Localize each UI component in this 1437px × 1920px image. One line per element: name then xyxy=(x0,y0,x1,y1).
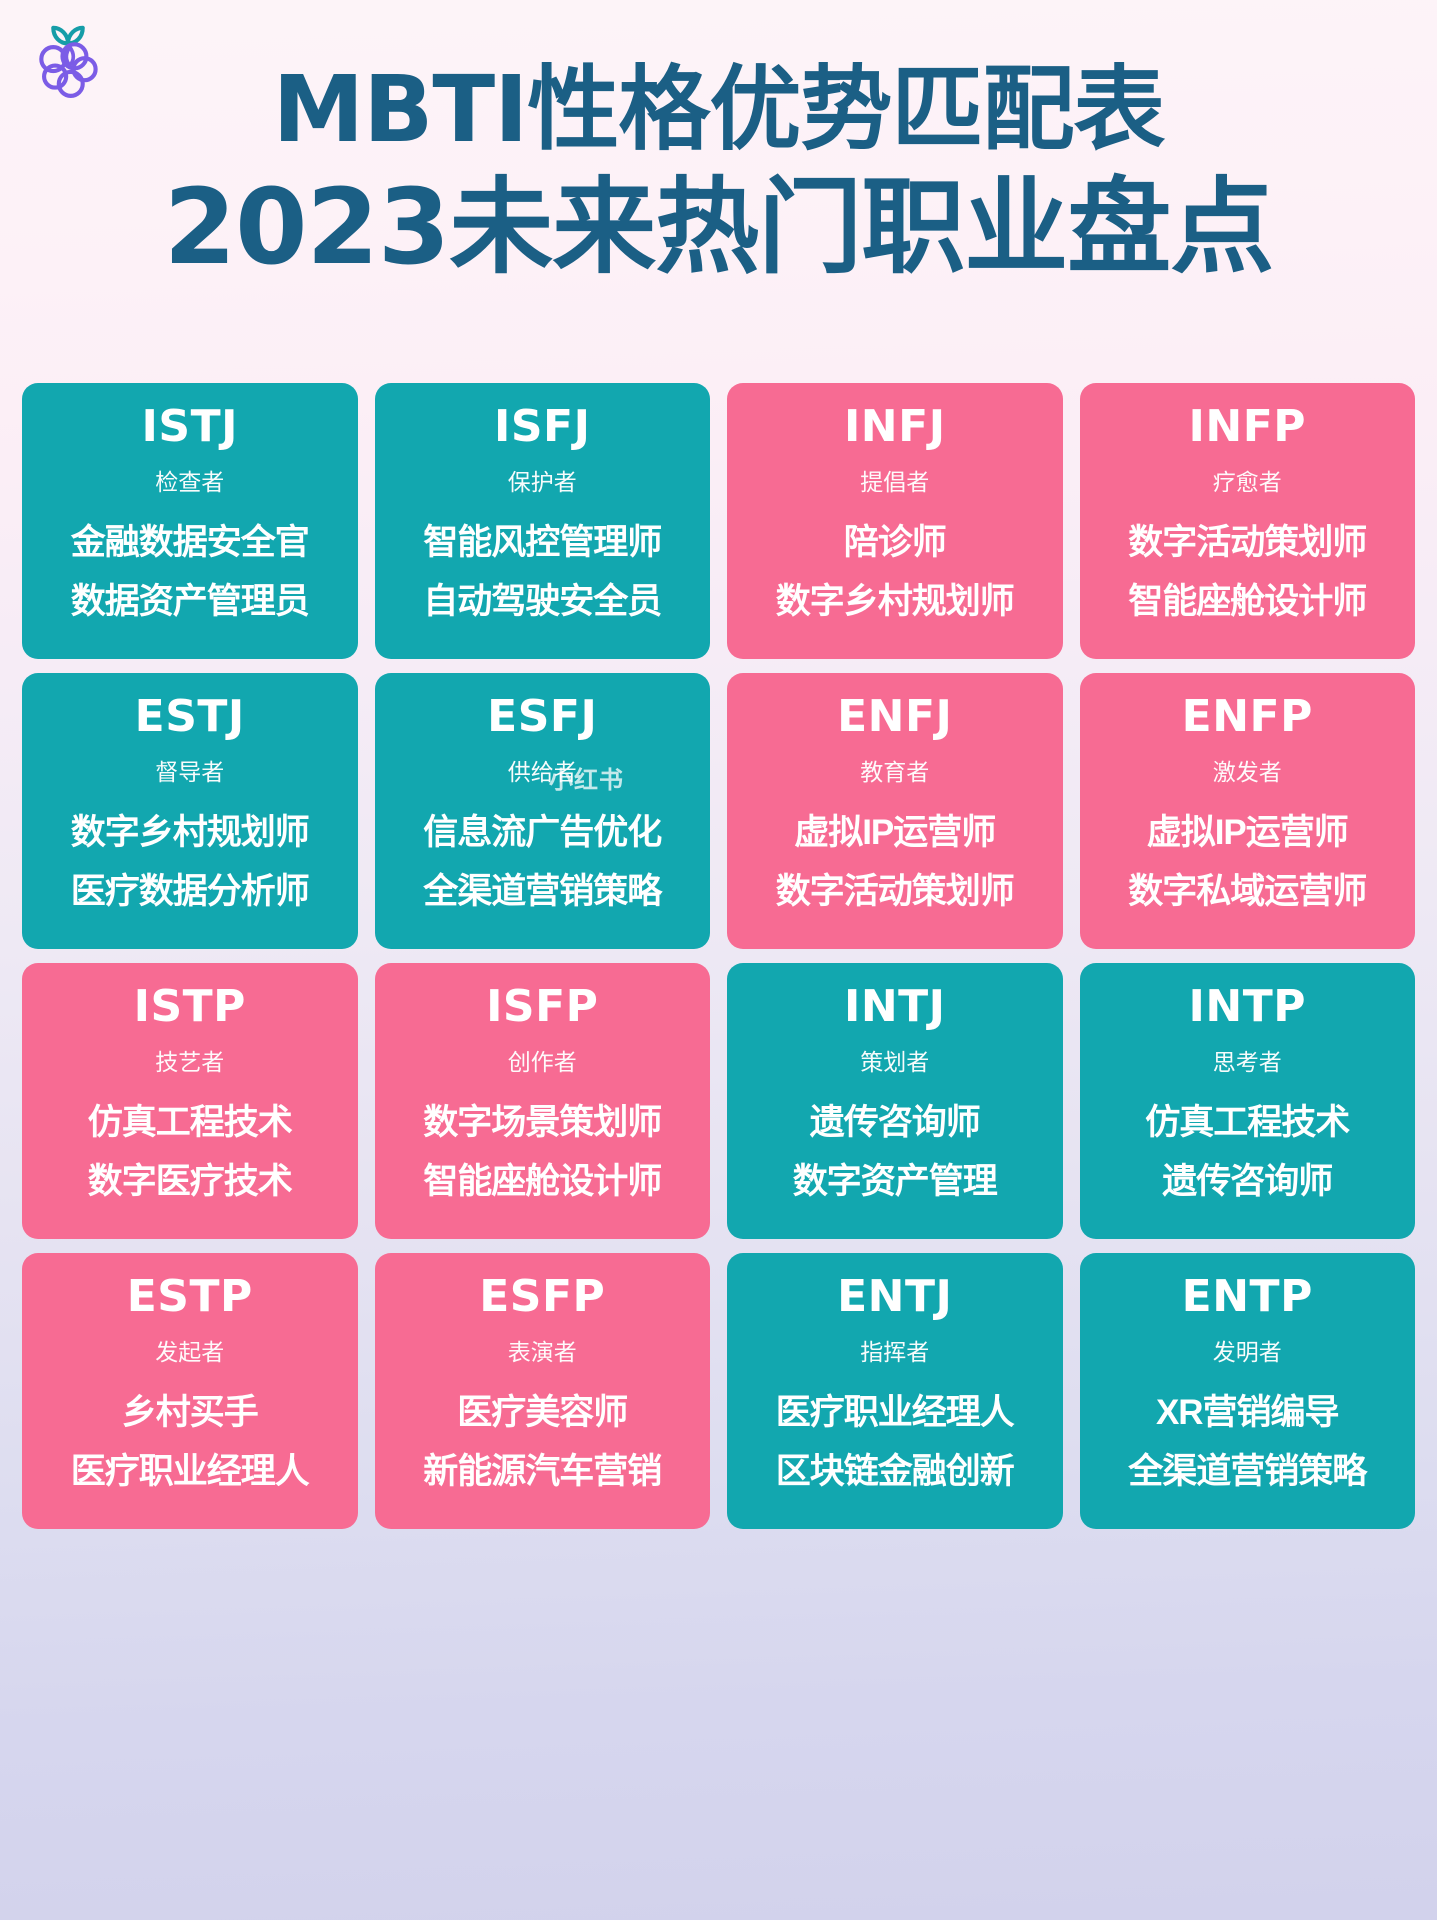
card-job-item: 全渠道营销策略 xyxy=(1128,1453,1366,1490)
card-nickname-label: 技艺者 xyxy=(155,1051,224,1074)
card-job-list: 虚拟IP运营师数字私域运营师 xyxy=(1086,814,1410,910)
card-job-item: 智能风控管理师 xyxy=(423,524,661,561)
mbti-card-intj[interactable]: INTJ策划者遗传咨询师数字资产管理 xyxy=(727,963,1063,1239)
card-job-item: 金融数据安全官 xyxy=(71,524,309,561)
card-nickname-label: 创作者 xyxy=(508,1051,577,1074)
card-job-list: 乡村买手医疗职业经理人 xyxy=(28,1394,352,1490)
card-job-item: 智能座舱设计师 xyxy=(1128,583,1366,620)
card-job-item: 自动驾驶安全员 xyxy=(423,583,661,620)
card-job-item: 数字活动策划师 xyxy=(1128,524,1366,561)
card-nickname-label: 督导者 xyxy=(155,761,224,784)
card-nickname-label: 保护者 xyxy=(508,471,577,494)
mbti-card-intp[interactable]: INTP思考者仿真工程技术遗传咨询师 xyxy=(1080,963,1416,1239)
card-nickname-label: 思考者 xyxy=(1213,1051,1282,1074)
mbti-card-esfp[interactable]: ESFP表演者医疗美容师新能源汽车营销 xyxy=(375,1253,711,1529)
card-job-item: 乡村买手 xyxy=(122,1394,258,1431)
card-job-item: 遗传咨询师 xyxy=(810,1104,980,1141)
card-job-item: 数字活动策划师 xyxy=(776,873,1014,910)
card-job-item: 仿真工程技术 xyxy=(1145,1104,1349,1141)
mbti-card-estj[interactable]: ESTJ督导者数字乡村规划师医疗数据分析师 xyxy=(22,673,358,949)
card-nickname-label: 表演者 xyxy=(508,1341,577,1364)
card-job-list: 虚拟IP运营师数字活动策划师 xyxy=(733,814,1057,910)
mbti-card-infj[interactable]: INFJ提倡者陪诊师数字乡村规划师 xyxy=(727,383,1063,659)
card-job-list: 医疗职业经理人区块链金融创新 xyxy=(733,1394,1057,1490)
card-type-label: INTP xyxy=(1189,985,1306,1029)
page-title: MBTI性格优势匹配表 2023未来热门职业盘点 xyxy=(0,60,1437,284)
mbti-card-isfj[interactable]: ISFJ保护者智能风控管理师自动驾驶安全员 xyxy=(375,383,711,659)
card-job-item: 数字乡村规划师 xyxy=(71,814,309,851)
card-job-item: 遗传咨询师 xyxy=(1162,1163,1332,1200)
card-nickname-label: 提倡者 xyxy=(860,471,929,494)
card-nickname-label: 发起者 xyxy=(155,1341,224,1364)
card-type-label: ENTJ xyxy=(837,1275,952,1319)
card-job-item: XR营销编导 xyxy=(1156,1394,1339,1431)
card-job-item: 全渠道营销策略 xyxy=(423,873,661,910)
card-type-label: ESTJ xyxy=(135,695,245,739)
mbti-card-infp[interactable]: INFP疗愈者数字活动策划师智能座舱设计师 xyxy=(1080,383,1416,659)
mbti-card-entj[interactable]: ENTJ指挥者医疗职业经理人区块链金融创新 xyxy=(727,1253,1063,1529)
card-type-label: INTJ xyxy=(844,985,946,1029)
card-job-item: 仿真工程技术 xyxy=(88,1104,292,1141)
card-job-item: 医疗职业经理人 xyxy=(71,1453,309,1490)
mbti-card-enfp[interactable]: ENFP激发者虚拟IP运营师数字私域运营师 xyxy=(1080,673,1416,949)
card-job-item: 数字乡村规划师 xyxy=(776,583,1014,620)
card-nickname-label: 疗愈者 xyxy=(1213,471,1282,494)
card-type-label: ISFP xyxy=(486,985,598,1029)
mbti-card-istp[interactable]: ISTP技艺者仿真工程技术数字医疗技术 xyxy=(22,963,358,1239)
card-type-label: INFJ xyxy=(844,405,946,449)
card-job-list: 智能风控管理师自动驾驶安全员 xyxy=(381,524,705,620)
mbti-card-isfp[interactable]: ISFP创作者数字场景策划师智能座舱设计师 xyxy=(375,963,711,1239)
card-job-item: 医疗数据分析师 xyxy=(71,873,309,910)
mbti-card-entp[interactable]: ENTP发明者XR营销编导全渠道营销策略 xyxy=(1080,1253,1416,1529)
card-job-list: XR营销编导全渠道营销策略 xyxy=(1086,1394,1410,1490)
card-type-label: ENTP xyxy=(1182,1275,1313,1319)
card-job-item: 陪诊师 xyxy=(844,524,946,561)
card-job-list: 数字场景策划师智能座舱设计师 xyxy=(381,1104,705,1200)
mbti-card-grid: ISTJ检查者金融数据安全官数据资产管理员ISFJ保护者智能风控管理师自动驾驶安… xyxy=(22,383,1415,1529)
card-job-item: 区块链金融创新 xyxy=(776,1453,1014,1490)
card-type-label: ENFP xyxy=(1182,695,1313,739)
card-job-list: 仿真工程技术遗传咨询师 xyxy=(1086,1104,1410,1200)
card-type-label: ESFJ xyxy=(487,695,597,739)
card-job-list: 数字活动策划师智能座舱设计师 xyxy=(1086,524,1410,620)
card-job-item: 医疗职业经理人 xyxy=(776,1394,1014,1431)
card-job-list: 数字乡村规划师医疗数据分析师 xyxy=(28,814,352,910)
mbti-card-esfj[interactable]: ESFJ供给者信息流广告优化全渠道营销策略 xyxy=(375,673,711,949)
card-type-label: ISTP xyxy=(134,985,246,1029)
card-job-item: 智能座舱设计师 xyxy=(423,1163,661,1200)
mbti-card-enfj[interactable]: ENFJ教育者虚拟IP运营师数字活动策划师 xyxy=(727,673,1063,949)
card-nickname-label: 激发者 xyxy=(1213,761,1282,784)
card-job-list: 医疗美容师新能源汽车营销 xyxy=(381,1394,705,1490)
card-job-item: 数字资产管理 xyxy=(793,1163,997,1200)
card-type-label: INFP xyxy=(1189,405,1307,449)
mbti-card-istj[interactable]: ISTJ检查者金融数据安全官数据资产管理员 xyxy=(22,383,358,659)
card-job-item: 虚拟IP运营师 xyxy=(1147,814,1348,851)
card-type-label: ISFJ xyxy=(494,405,591,449)
card-nickname-label: 发明者 xyxy=(1213,1341,1282,1364)
card-nickname-label: 供给者 xyxy=(508,761,577,784)
card-nickname-label: 检查者 xyxy=(155,471,224,494)
card-type-label: ESTP xyxy=(127,1275,253,1319)
card-nickname-label: 策划者 xyxy=(860,1051,929,1074)
card-job-item: 数据资产管理员 xyxy=(71,583,309,620)
card-job-item: 数字医疗技术 xyxy=(88,1163,292,1200)
card-type-label: ENFJ xyxy=(837,695,952,739)
card-job-item: 数字场景策划师 xyxy=(423,1104,661,1141)
card-job-list: 遗传咨询师数字资产管理 xyxy=(733,1104,1057,1200)
card-job-item: 新能源汽车营销 xyxy=(423,1453,661,1490)
card-job-list: 金融数据安全官数据资产管理员 xyxy=(28,524,352,620)
card-type-label: ESFP xyxy=(479,1275,605,1319)
card-nickname-label: 教育者 xyxy=(860,761,929,784)
card-job-list: 信息流广告优化全渠道营销策略 xyxy=(381,814,705,910)
card-job-list: 仿真工程技术数字医疗技术 xyxy=(28,1104,352,1200)
card-type-label: ISTJ xyxy=(142,405,238,449)
title-line-1: MBTI性格优势匹配表 xyxy=(0,60,1437,159)
title-line-2: 2023未来热门职业盘点 xyxy=(0,171,1437,283)
mbti-card-estp[interactable]: ESTP发起者乡村买手医疗职业经理人 xyxy=(22,1253,358,1529)
card-job-item: 数字私域运营师 xyxy=(1128,873,1366,910)
card-job-list: 陪诊师数字乡村规划师 xyxy=(733,524,1057,620)
card-nickname-label: 指挥者 xyxy=(860,1341,929,1364)
card-job-item: 信息流广告优化 xyxy=(423,814,661,851)
card-job-item: 医疗美容师 xyxy=(457,1394,627,1431)
card-job-item: 虚拟IP运营师 xyxy=(794,814,995,851)
